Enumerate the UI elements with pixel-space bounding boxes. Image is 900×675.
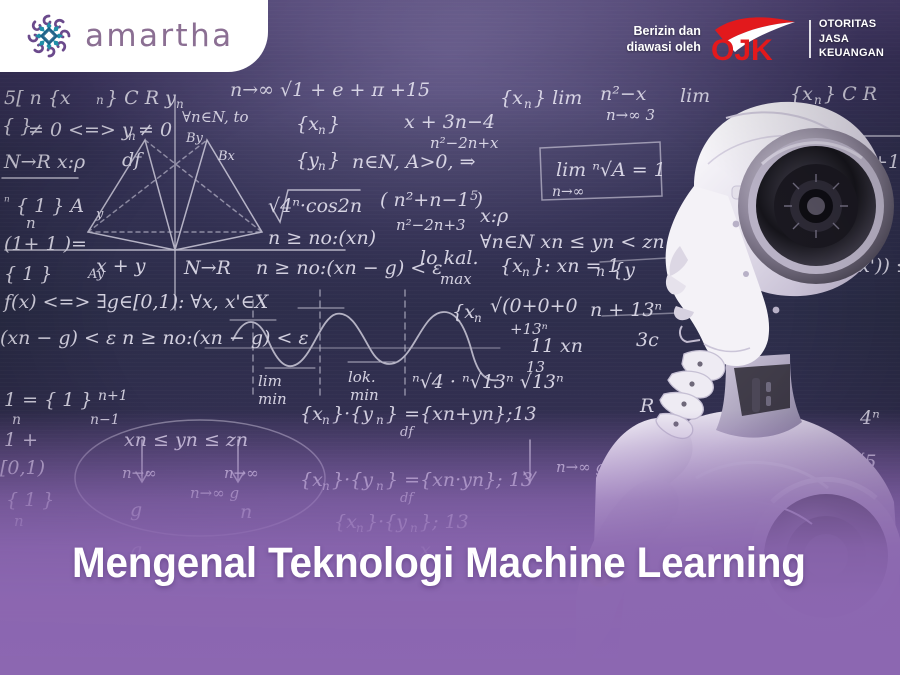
brand-logo-card[interactable]: amartha (0, 0, 268, 72)
regulator-badge: Berizin dan diawasi oleh OJK OTORITAS JA… (627, 14, 885, 64)
regulator-lead-text: Berizin dan diawasi oleh (627, 23, 701, 55)
article-banner: 5[ n {xn } C R yn n→∞ √1 + e + π +15 {xn… (0, 0, 900, 675)
regulator-name-line3: KEUANGAN (819, 46, 884, 61)
ojk-logo-icon: OJK (709, 14, 801, 64)
regulator-name-line1: OTORITAS (819, 17, 884, 32)
brand-wordmark: amartha (85, 21, 234, 52)
ojk-divider (809, 20, 811, 58)
regulator-name: OTORITAS JASA KEUANGAN (819, 17, 884, 62)
regulator-lead-line2: diawasi oleh (627, 39, 701, 55)
regulator-name-line2: JASA (819, 32, 884, 47)
svg-text:OJK: OJK (711, 34, 773, 64)
page-title: Mengenal Teknologi Machine Learning (72, 541, 813, 586)
regulator-lead-line1: Berizin dan (627, 23, 701, 39)
amartha-mandala-icon (24, 11, 74, 61)
